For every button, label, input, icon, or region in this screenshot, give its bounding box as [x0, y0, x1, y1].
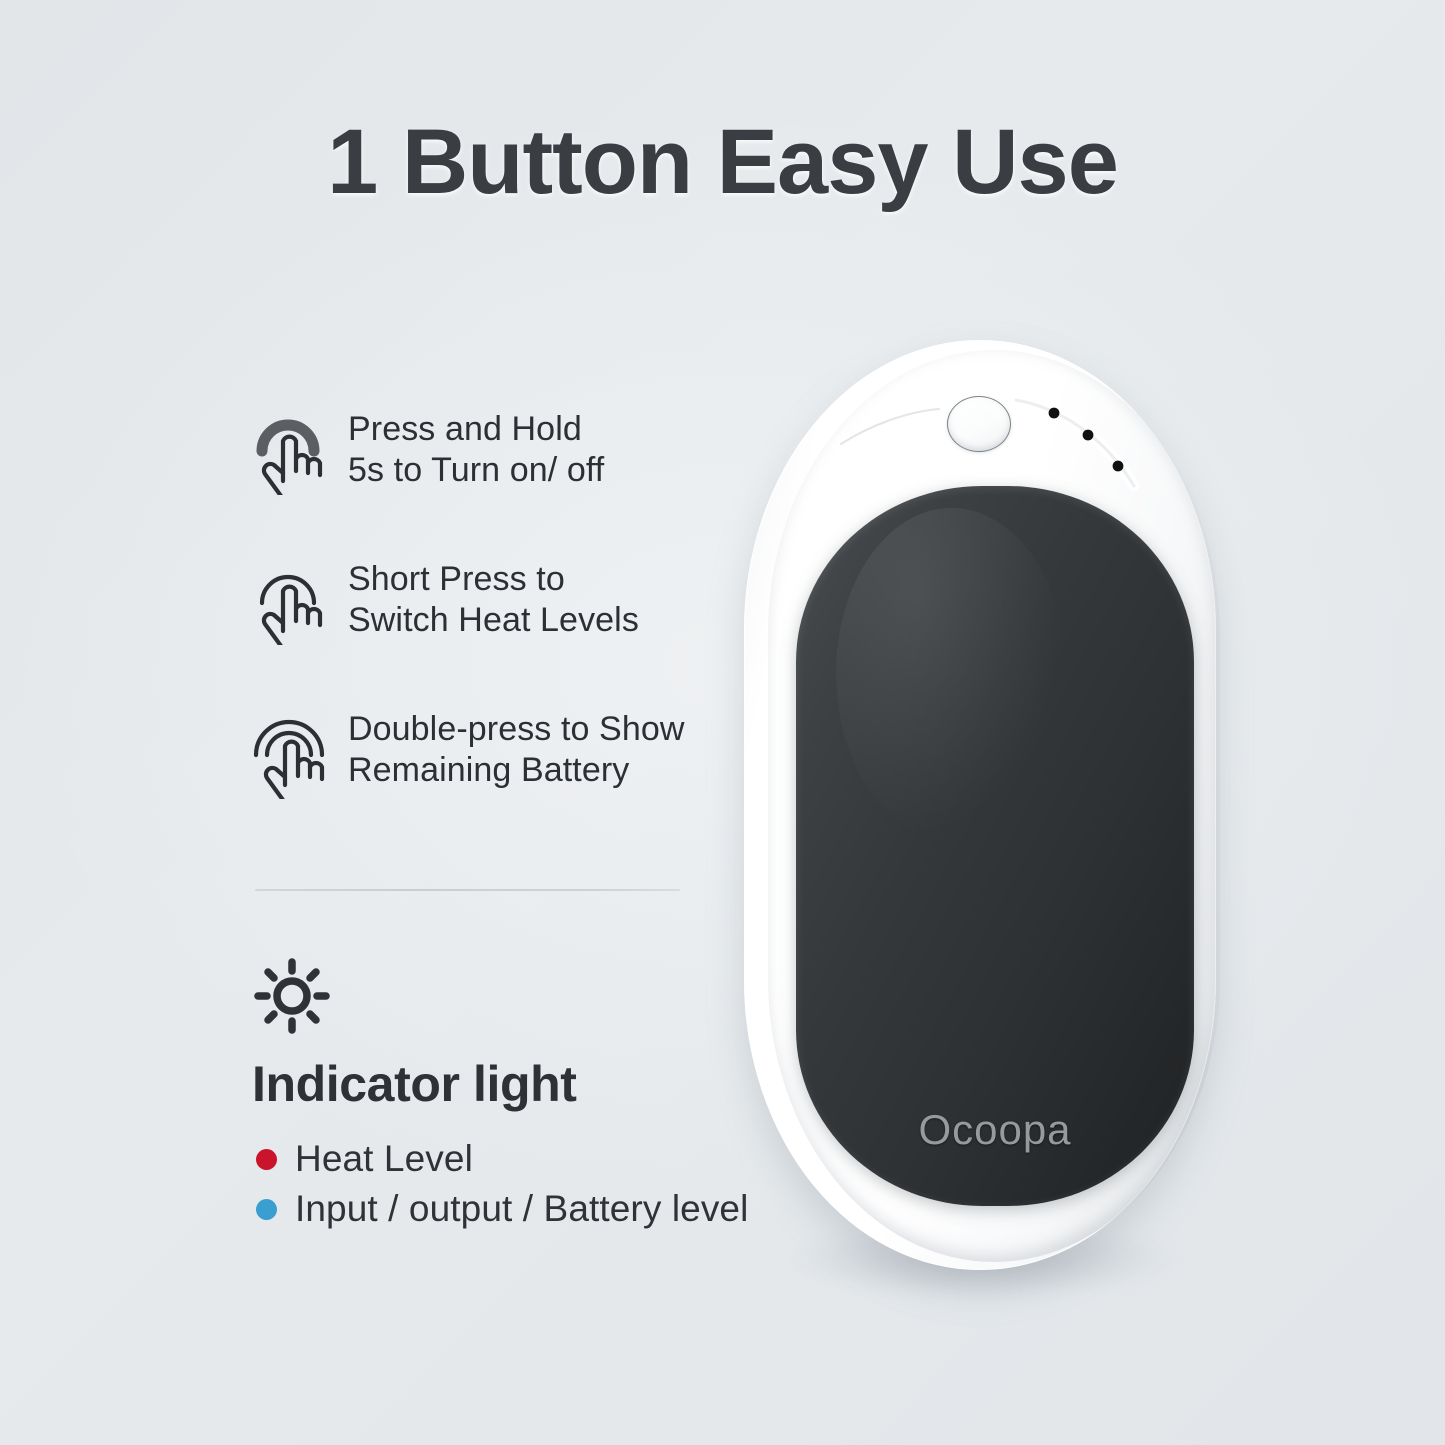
device-body: Ocoopa [744, 340, 1216, 1270]
product-device: Ocoopa [730, 340, 1230, 1320]
sun-icon [254, 958, 750, 1039]
led-dot [1113, 461, 1124, 472]
led-dot [1049, 408, 1060, 419]
short-press-icon [250, 555, 336, 650]
battery-level-dot-icon [256, 1199, 277, 1220]
power-button[interactable] [947, 396, 1011, 452]
legend-item: Input / output / Battery level [250, 1184, 750, 1234]
panel-gloss [836, 508, 1067, 839]
indicator-light-heading: Indicator light [252, 1057, 750, 1112]
feature-line-1: Double-press to Show [348, 710, 685, 748]
device-heating-panel: Ocoopa [796, 486, 1194, 1206]
feature-row: Press and Hold 5s to Turn on/ off [250, 405, 720, 555]
feature-text: Short Press to Switch Heat Levels [336, 555, 639, 642]
press-and-hold-icon [250, 405, 336, 500]
feature-line-2: Remaining Battery [348, 750, 685, 791]
infographic-page: 1 Button Easy Use Press and Hold 5s to T… [0, 0, 1445, 1445]
page-title: 1 Button Easy Use [0, 112, 1445, 213]
heat-level-dot-icon [256, 1149, 277, 1170]
feature-line-2: 5s to Turn on/ off [348, 450, 604, 491]
legend-label: Heat Level [295, 1138, 473, 1180]
feature-list: Press and Hold 5s to Turn on/ off Short … [250, 405, 720, 855]
led-light-pipe-left [839, 404, 945, 448]
feature-line-1: Short Press to [348, 560, 565, 598]
feature-row: Short Press to Switch Heat Levels [250, 555, 720, 705]
brand-logo: Ocoopa [796, 1106, 1194, 1154]
led-dot [1083, 430, 1094, 441]
double-press-icon [250, 705, 336, 804]
indicator-legend: Heat Level Input / output / Battery leve… [250, 1134, 750, 1234]
legend-item: Heat Level [250, 1134, 750, 1184]
feature-line-1: Press and Hold [348, 410, 582, 448]
section-divider [255, 889, 680, 891]
feature-text: Double-press to Show Remaining Battery [336, 705, 685, 792]
legend-label: Input / output / Battery level [295, 1188, 748, 1230]
indicator-light-section: Indicator light Heat Level Input / outpu… [250, 958, 750, 1234]
feature-line-2: Switch Heat Levels [348, 600, 639, 641]
feature-text: Press and Hold 5s to Turn on/ off [336, 405, 604, 492]
feature-row: Double-press to Show Remaining Battery [250, 705, 720, 855]
